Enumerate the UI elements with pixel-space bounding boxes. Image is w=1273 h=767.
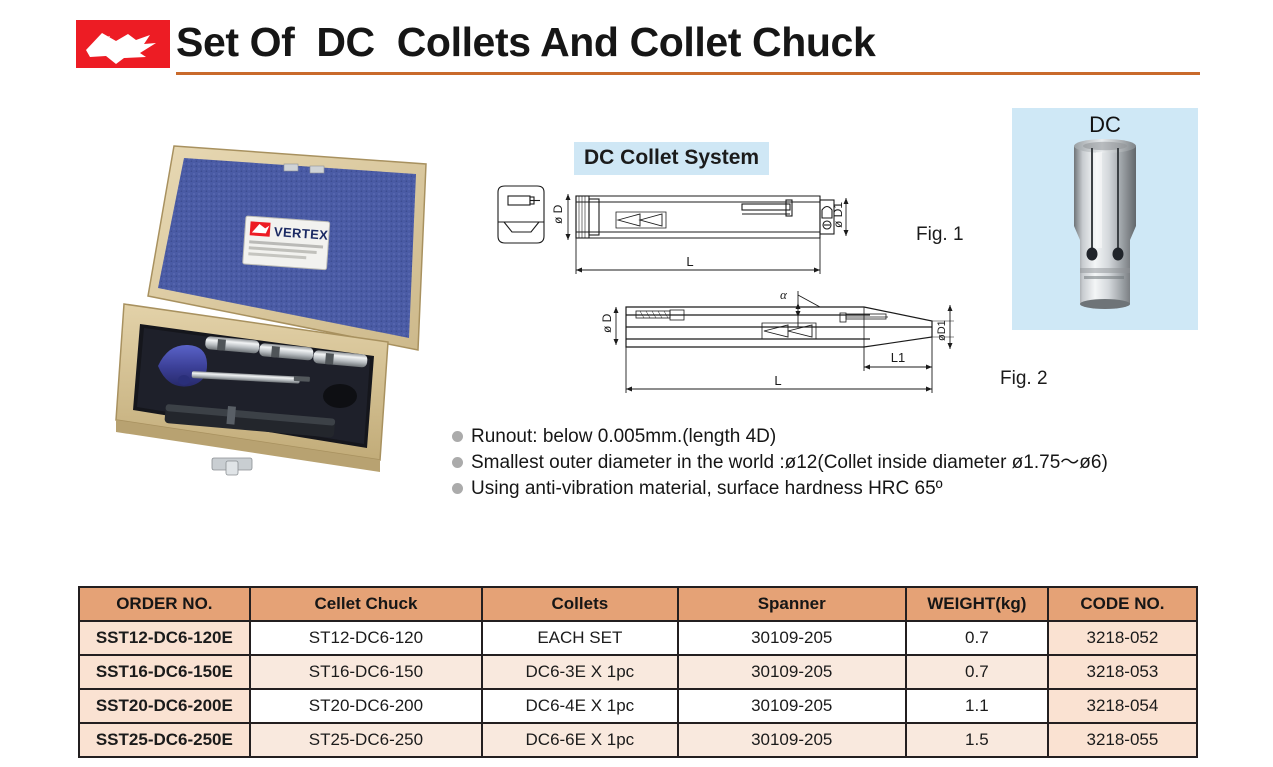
table-row: SST16-DC6-150E ST16-DC6-150 DC6-3E X 1pc… (79, 655, 1197, 689)
bullet-icon (452, 431, 463, 442)
svg-text:α: α (780, 287, 788, 302)
svg-text:L1: L1 (891, 350, 905, 365)
cell-spanner: 30109-205 (678, 689, 906, 723)
cell-order-no: SST12-DC6-120E (79, 621, 250, 655)
cell-weight: 1.1 (906, 689, 1048, 723)
cell-order-no: SST25-DC6-250E (79, 723, 250, 757)
cell-cellet-chuck: ST25-DC6-250 (250, 723, 482, 757)
table-header-row: ORDER NO. Cellet Chuck Collets Spanner W… (79, 587, 1197, 621)
column-header-collets: Collets (482, 587, 677, 621)
cell-code-no: 3218-054 (1048, 689, 1197, 723)
svg-text:ø D: ø D (551, 204, 565, 224)
cell-order-no: SST20-DC6-200E (79, 689, 250, 723)
table-row: SST25-DC6-250E ST25-DC6-250 DC6-6E X 1pc… (79, 723, 1197, 757)
svg-text:L: L (774, 373, 781, 388)
collet-set-case-photo: VERTEX (88, 128, 436, 480)
cell-cellet-chuck: ST16-DC6-150 (250, 655, 482, 689)
column-header-cellet-chuck: Cellet Chuck (250, 587, 482, 621)
fig1-caption: Fig. 1 (916, 224, 964, 246)
fig2-caption: Fig. 2 (1000, 368, 1048, 390)
cell-collets: DC6-3E X 1pc (482, 655, 677, 689)
spec-text: Using anti-vibration material, surface h… (471, 476, 943, 502)
cell-weight: 0.7 (906, 655, 1048, 689)
table-row: SST12-DC6-120E ST12-DC6-120 EACH SET 301… (79, 621, 1197, 655)
dc-collet-system-label: DC Collet System (574, 142, 769, 175)
technical-diagrams: DC Collet System Fig. 1 Fig. 2 ø D (452, 128, 1012, 408)
dc-photo-caption: DC (1012, 112, 1198, 138)
page-header: Set Of DC Collets And Collet Chuck (0, 0, 1273, 86)
cell-code-no: 3218-052 (1048, 621, 1197, 655)
bullet-icon (452, 483, 463, 494)
cell-spanner: 30109-205 (678, 655, 906, 689)
table-row: SST20-DC6-200E ST20-DC6-200 DC6-4E X 1pc… (79, 689, 1197, 723)
page-title: Set Of DC Collets And Collet Chuck (176, 16, 875, 68)
svg-text:ø D: ø D (602, 313, 614, 333)
svg-text:øD1: øD1 (936, 320, 948, 341)
svg-text:L: L (686, 254, 693, 269)
column-header-spanner: Spanner (678, 587, 906, 621)
cell-cellet-chuck: ST20-DC6-200 (250, 689, 482, 723)
dc-collet-photo (1012, 108, 1198, 330)
cell-collets: DC6-4E X 1pc (482, 689, 677, 723)
svg-text:ø D1: ø D1 (831, 202, 845, 228)
fig1-drawing: ø D (490, 178, 910, 288)
cell-order-no: SST16-DC6-150E (79, 655, 250, 689)
cell-spanner: 30109-205 (678, 723, 906, 757)
vertex-eagle-logo-icon (76, 20, 170, 68)
cell-collets: DC6-6E X 1pc (482, 723, 677, 757)
spec-item: Using anti-vibration material, surface h… (452, 476, 1252, 502)
spec-item: Runout: below 0.005mm.(length 4D) (452, 424, 1252, 450)
cell-code-no: 3218-055 (1048, 723, 1197, 757)
product-spec-table: ORDER NO. Cellet Chuck Collets Spanner W… (78, 586, 1198, 758)
specification-list: Runout: below 0.005mm.(length 4D) Smalle… (452, 424, 1252, 502)
cell-cellet-chuck: ST12-DC6-120 (250, 621, 482, 655)
column-header-order-no: ORDER NO. (79, 587, 250, 621)
cell-weight: 1.5 (906, 723, 1048, 757)
fig2-drawing: ø D (602, 283, 1002, 403)
catalog-page: Set Of DC Collets And Collet Chuck (0, 0, 1273, 767)
column-header-weight: WEIGHT(kg) (906, 587, 1048, 621)
spec-text: Smallest outer diameter in the world :ø1… (471, 450, 1108, 476)
spec-item: Smallest outer diameter in the world :ø1… (452, 450, 1252, 476)
bullet-icon (452, 457, 463, 468)
title-underline (176, 72, 1200, 75)
column-header-code-no: CODE NO. (1048, 587, 1197, 621)
cell-collets: EACH SET (482, 621, 677, 655)
cell-code-no: 3218-053 (1048, 655, 1197, 689)
cell-weight: 0.7 (906, 621, 1048, 655)
spec-text: Runout: below 0.005mm.(length 4D) (471, 424, 776, 450)
cell-spanner: 30109-205 (678, 621, 906, 655)
